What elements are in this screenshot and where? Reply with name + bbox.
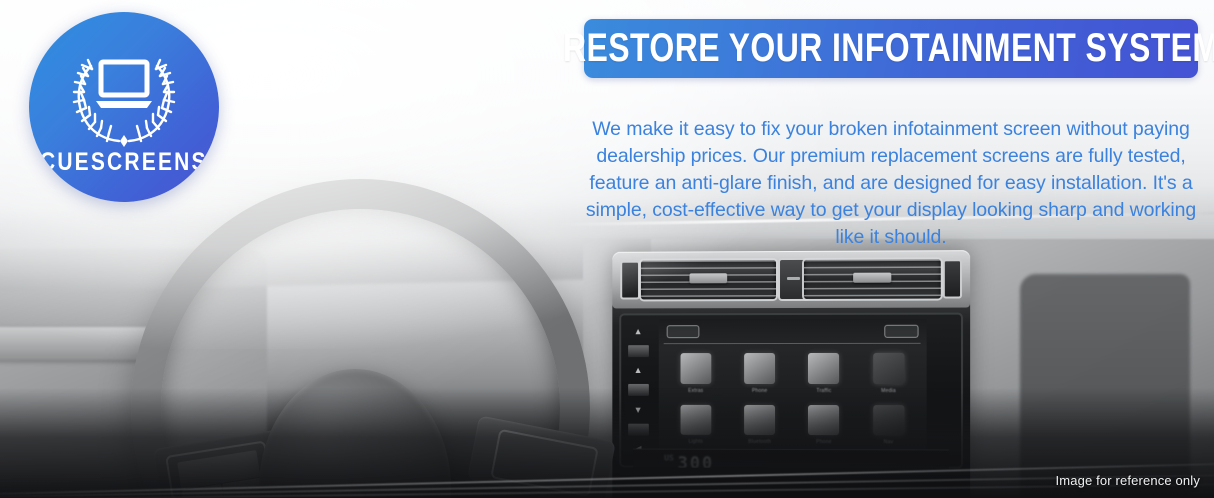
headline-banner: RESTORE YOUR INFOTAINMENT SYSTEM [584,19,1198,78]
air-vent-left [640,261,775,300]
logo-wordmark: CUESCREENS [40,148,208,177]
description-paragraph: We make it easy to fix your broken infot… [575,116,1207,251]
monitor-screen-laurel-icon [55,44,193,152]
vent-bezel [612,251,970,310]
vent-end-right [942,260,962,299]
air-vent-right [804,260,941,300]
banner-canvas: ▲ ▲ ▼ ◀ Extras [0,0,1214,498]
music-note-icon [873,354,904,385]
dish-icon [680,354,711,385]
cuescreens-logo-badge[interactable]: CUESCREENS [29,12,219,202]
vent-slider [853,273,891,283]
bottom-shadow-sweep [0,388,1214,498]
screen-status-bar [663,322,920,344]
home-icon [666,326,699,339]
vent-slider [689,273,727,283]
reference-disclaimer: Image for reference only [1055,473,1200,488]
page-title: RESTORE YOUR INFOTAINMENT SYSTEM [563,26,1214,71]
phone-icon [744,354,775,385]
settings-icon [884,325,918,338]
traffic-icon [808,354,839,385]
